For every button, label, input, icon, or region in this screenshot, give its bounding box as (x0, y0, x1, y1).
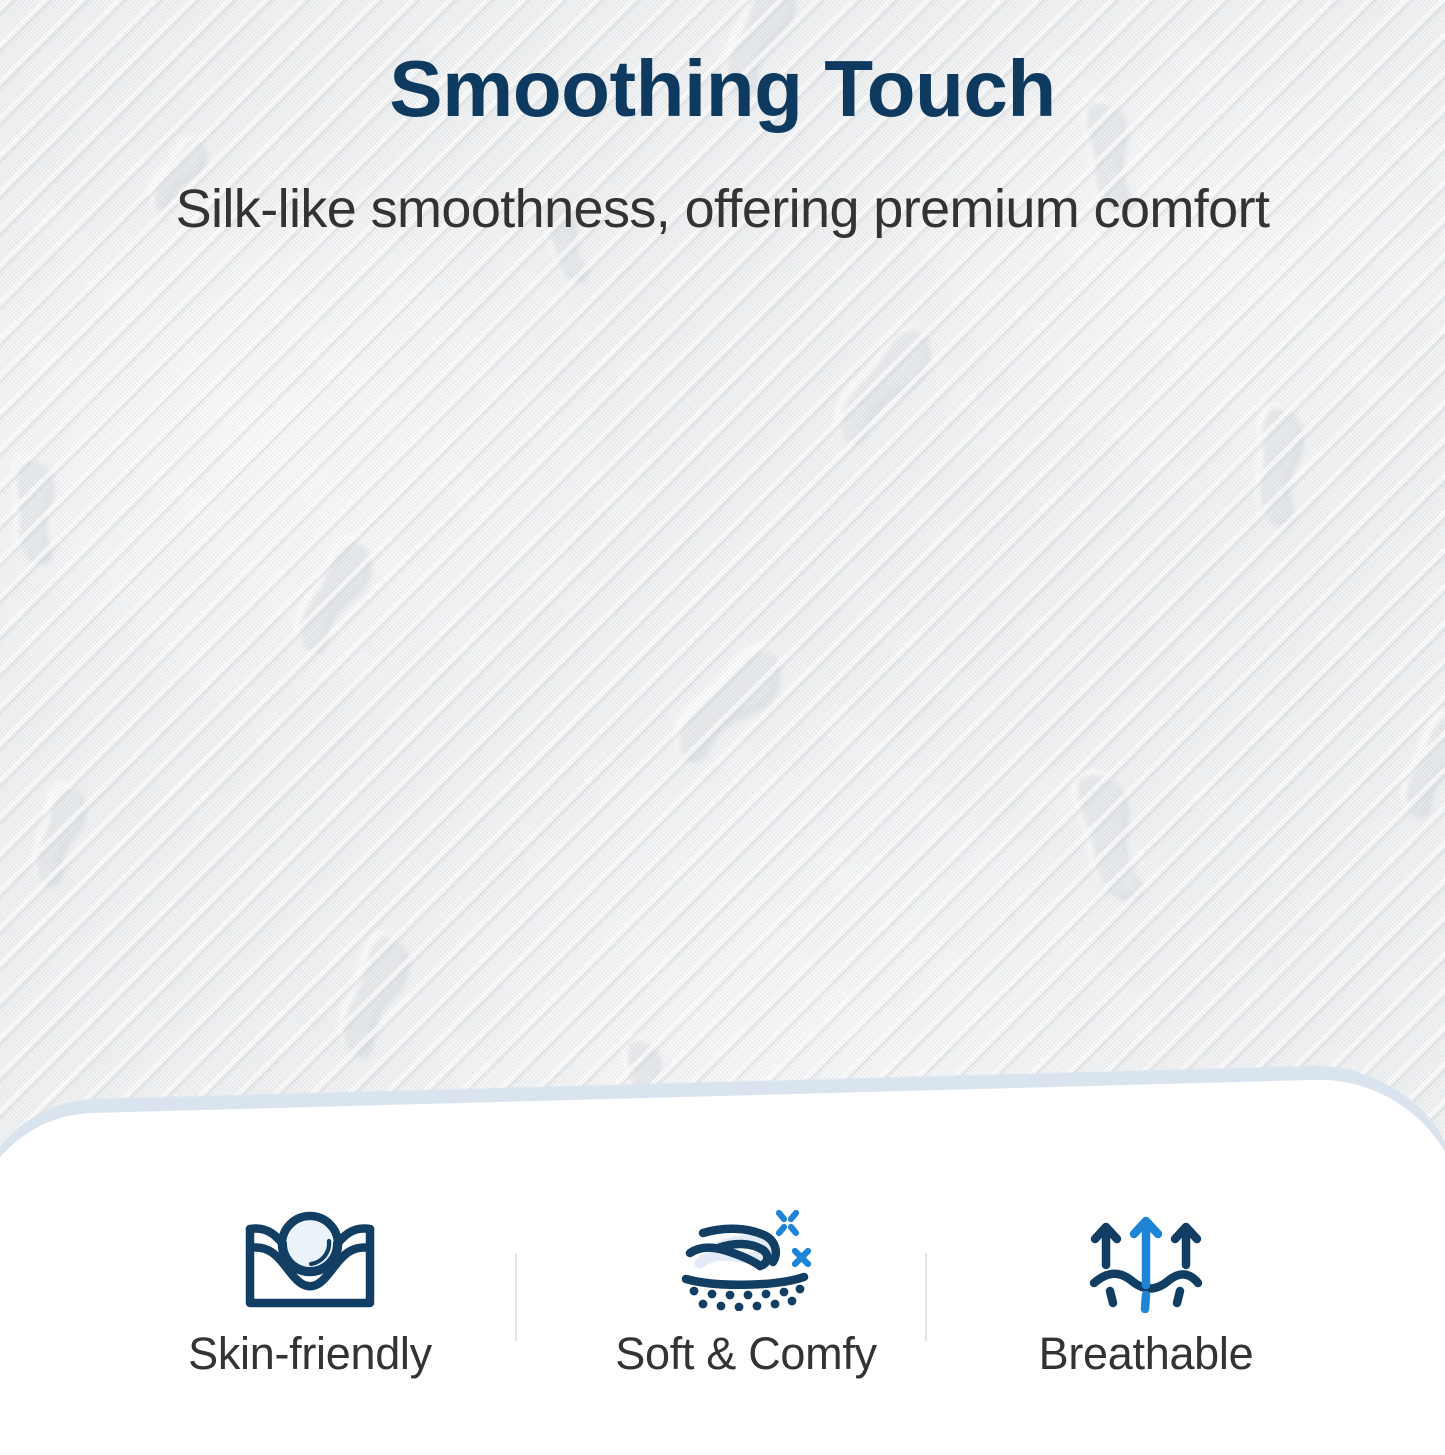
feature-label: Breathable (946, 1331, 1346, 1376)
feature-divider (515, 1253, 517, 1341)
page-title: Smoothing Touch (0, 46, 1445, 132)
page-subtitle: Silk-like smoothness, offering premium c… (0, 178, 1445, 240)
feature-item-skin-friendly[interactable]: Skin-friendly (110, 1205, 510, 1376)
hand-touching-fabric-icon (546, 1205, 946, 1313)
feature-item-breathable[interactable]: Breathable (946, 1205, 1346, 1376)
cushion-wave-sphere-icon (110, 1205, 510, 1313)
feature-item-soft-comfy[interactable]: Soft & Comfy (546, 1205, 946, 1376)
airflow-arrows-icon (946, 1205, 1346, 1313)
feature-list: Skin-friendly (0, 1205, 1445, 1415)
feature-label: Skin-friendly (110, 1331, 510, 1376)
feature-label: Soft & Comfy (546, 1331, 946, 1376)
